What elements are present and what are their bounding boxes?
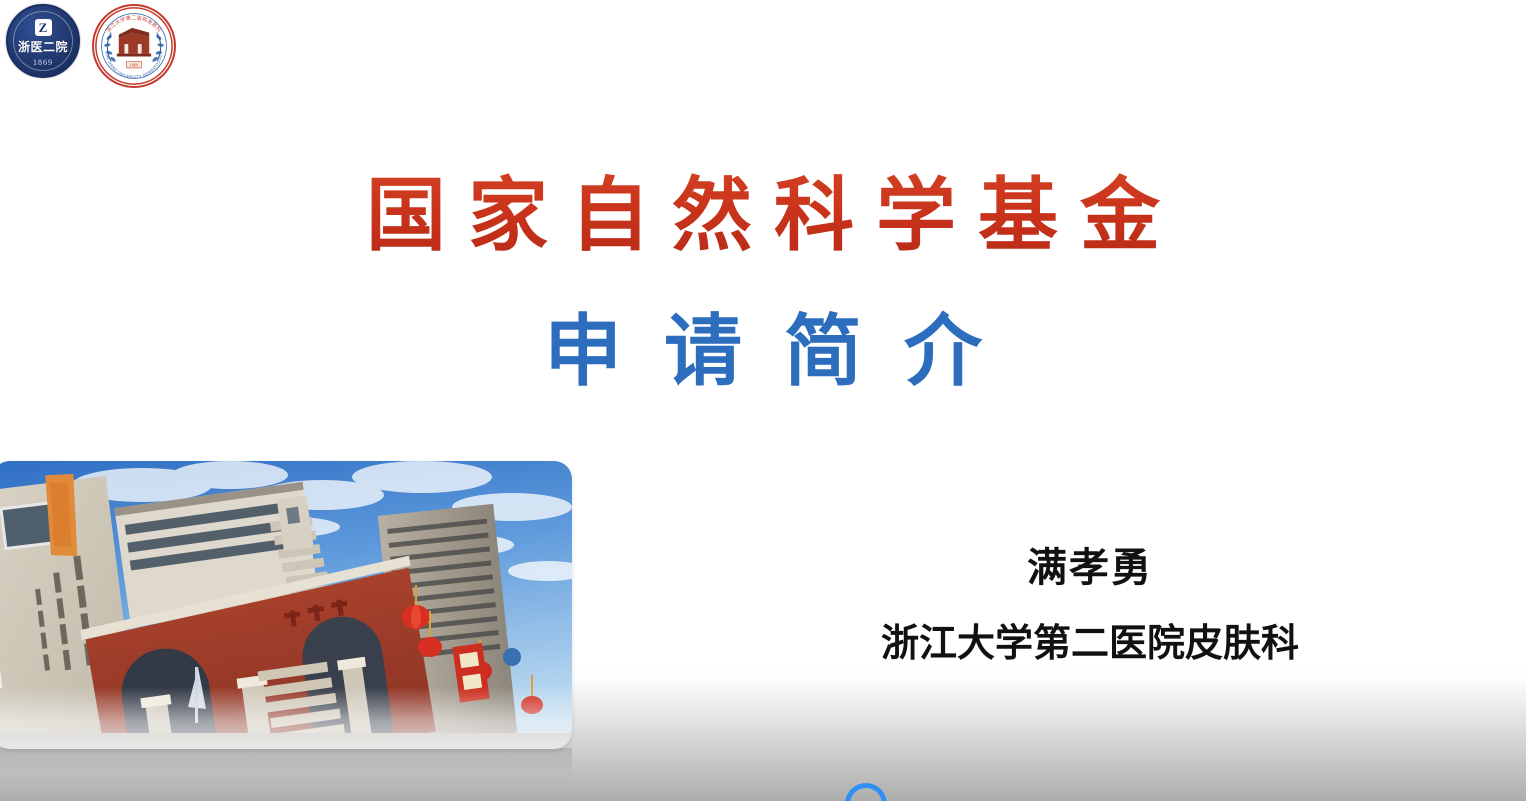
presenter-block: 满孝勇 浙江大学第二医院皮肤科 [830, 542, 1350, 668]
dermatology-emblem-logo: 1869 浙江大学第二医院皮肤科 ZHE JIANG UNIVERSITY DE… [92, 4, 176, 88]
presenter-name: 满孝勇 [830, 542, 1350, 594]
presentation-slide: Z 浙医二院 1869 [0, 0, 1526, 801]
hospital-seal-logo: Z 浙医二院 1869 [6, 4, 80, 78]
hospital-gate-photo [0, 461, 572, 749]
slide-title-secondary: 申请简介 [0, 305, 1526, 399]
seal-name-label: 浙医二院 [18, 38, 68, 55]
seal-year-label: 1869 [33, 58, 53, 67]
presenter-affiliation: 浙江大学第二医院皮肤科 [830, 618, 1350, 668]
seal-z-mark: Z [35, 19, 52, 36]
slide-title-primary: 国家自然科学基金 [0, 168, 1526, 264]
dermatology-emblem-graphic: 1869 浙江大学第二医院皮肤科 ZHE JIANG UNIVERSITY DE… [94, 6, 174, 86]
photo-reflection [0, 748, 572, 801]
svg-text:1869: 1869 [130, 63, 138, 68]
hospital-gate-illustration [0, 461, 572, 749]
logo-bar: Z 浙医二院 1869 [6, 4, 176, 88]
